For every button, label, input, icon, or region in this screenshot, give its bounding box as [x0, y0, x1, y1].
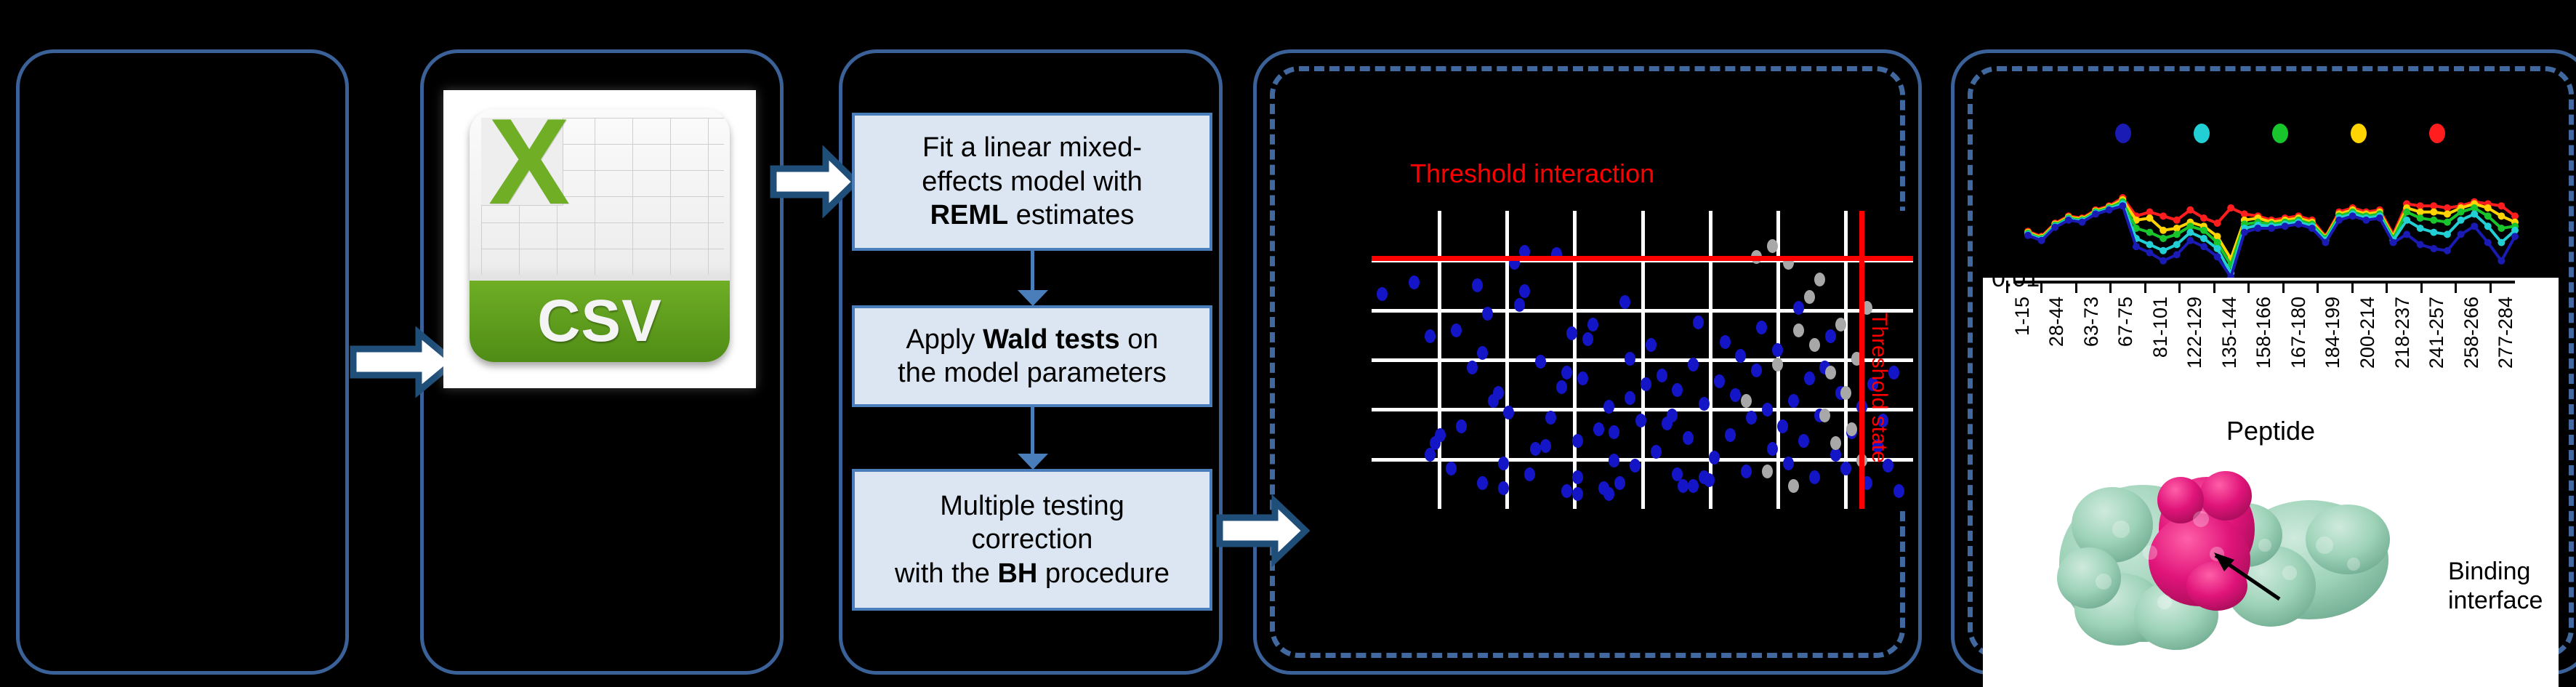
- chart-legend-dot: [2429, 124, 2445, 143]
- scatter-point: [1793, 301, 1804, 315]
- connector-2-arrowhead: [1018, 454, 1048, 470]
- scatter-point: [1693, 316, 1704, 329]
- flow-arrow-3: [1215, 494, 1310, 567]
- scatter-point: [1582, 332, 1593, 346]
- proc3-line1: Multiple testing: [940, 491, 1124, 521]
- chart-data-point: [2160, 247, 2167, 254]
- peptide-tick-label: 277-284: [2495, 297, 2517, 369]
- chart-data-point: [2430, 229, 2437, 236]
- scatter-point: [1625, 352, 1635, 366]
- scatter-point: [1545, 411, 1556, 425]
- scatter-point: [1804, 371, 1815, 385]
- scatter-point: [1741, 394, 1752, 408]
- chart-data-point: [2200, 214, 2207, 222]
- chart-data-point: [2133, 243, 2140, 250]
- scatter-point: [1756, 321, 1767, 334]
- connector-2: [1031, 407, 1034, 457]
- scatter-point: [1725, 428, 1736, 442]
- scatter-point: [1609, 454, 1619, 467]
- chart-data-point: [2241, 229, 2248, 236]
- line-chart-svg: [2006, 154, 2544, 285]
- scatter-point: [1451, 324, 1462, 337]
- connector-1: [1031, 251, 1034, 293]
- scatter-point: [1561, 366, 1572, 379]
- scatter-point: [1683, 431, 1694, 445]
- axis-tick: [2109, 281, 2112, 293]
- chart-data-point: [2146, 241, 2154, 248]
- axis-tick: [2178, 281, 2181, 293]
- scatter-point: [1678, 479, 1689, 493]
- proc1-line2: effects model with: [922, 166, 1142, 197]
- scatter-point: [1893, 484, 1904, 498]
- scatter-point: [1699, 470, 1710, 484]
- peptide-line-chart[interactable]: [2006, 154, 2544, 285]
- scatter-point: [1772, 343, 1783, 357]
- chart-data-point: [2038, 237, 2045, 244]
- peptide-tick-label: 81-101: [2149, 297, 2172, 358]
- chart-data-point: [2227, 204, 2234, 212]
- chart-data-point: [2214, 253, 2221, 260]
- scatter-point: [1809, 338, 1820, 352]
- scatter-title: Threshold interaction: [1410, 158, 1654, 189]
- threshold-interaction-line: [1372, 256, 1913, 261]
- chart-data-point: [2254, 225, 2261, 232]
- excel-x-icon: X: [488, 109, 570, 222]
- scatter-point: [1646, 338, 1657, 352]
- chart-data-point: [2362, 217, 2370, 224]
- binding-label-line1: Binding: [2448, 557, 2543, 586]
- scatter-point: [1587, 318, 1598, 332]
- chart-data-point: [2458, 217, 2465, 224]
- chart-data-point: [2160, 257, 2167, 265]
- scatter-point: [1614, 476, 1625, 490]
- scatter-point: [1377, 287, 1388, 301]
- scatter-point: [1477, 476, 1488, 490]
- peptide-tick-label: 122-129: [2183, 297, 2206, 369]
- chart-data-point: [2024, 232, 2032, 239]
- scatter-point: [1524, 467, 1535, 481]
- chart-data-point: [2146, 214, 2154, 222]
- scatter-point: [1425, 329, 1436, 343]
- chart-data-point: [2173, 241, 2181, 248]
- peptide-tick-label: 67-75: [2114, 297, 2137, 347]
- scatter-point: [1714, 374, 1725, 388]
- scatter-point: [1556, 380, 1567, 394]
- chart-data-point: [2322, 239, 2329, 246]
- chart-data-point: [2403, 217, 2410, 224]
- scatter-plot[interactable]: [1372, 211, 1913, 509]
- scatter-point: [1577, 371, 1588, 385]
- chart-data-point: [2200, 243, 2207, 250]
- chart-data-point: [2106, 206, 2113, 214]
- scatter-point: [1793, 324, 1804, 337]
- chart-data-point: [2160, 235, 2167, 242]
- proc1-reml: REML: [930, 200, 1009, 230]
- scatter-point: [1762, 403, 1773, 417]
- axis-tick: [2282, 281, 2285, 293]
- scatter-point: [1688, 479, 1699, 493]
- chart-data-point: [2444, 247, 2451, 254]
- scatter-point: [1446, 462, 1457, 475]
- chart-data-point: [2497, 212, 2505, 220]
- proc2-wald: Wald tests: [983, 324, 1120, 355]
- scatter-point: [1498, 457, 1509, 470]
- chart-legend-dot: [2272, 124, 2288, 143]
- scatter-point: [1572, 470, 1583, 484]
- chart-data-point: [2497, 257, 2505, 265]
- scatter-point: [1825, 366, 1836, 379]
- scatter-point: [1651, 445, 1662, 459]
- yaxis-tick-label: 0.01: [1992, 265, 2040, 293]
- scatter-point: [1593, 422, 1604, 436]
- chart-data-point: [2403, 230, 2410, 238]
- scatter-point: [1746, 411, 1757, 425]
- scatter-point: [1625, 391, 1635, 405]
- chart-data-point: [2497, 225, 2505, 232]
- chart-data-point: [2376, 214, 2383, 222]
- scatter-point: [1804, 290, 1815, 304]
- scatter-point: [1435, 428, 1446, 442]
- scatter-point: [1772, 358, 1783, 371]
- peptide-tick-label: 167-180: [2287, 297, 2310, 369]
- chart-data-point: [2484, 239, 2492, 246]
- scatter-gridline-h: [1372, 358, 1913, 362]
- chart-legend-dot: [2351, 124, 2367, 143]
- scatter-point: [1519, 284, 1530, 298]
- chart-data-point: [2186, 237, 2194, 244]
- chart-data-point: [2173, 251, 2181, 258]
- xaxis-title: Peptide: [1983, 416, 2559, 446]
- threshold-state-label: Threshold state: [1867, 313, 1891, 463]
- axis-tick: [2040, 281, 2042, 293]
- scatter-point: [1641, 377, 1651, 391]
- scatter-point: [1540, 439, 1551, 453]
- csv-label: CSV: [537, 287, 662, 355]
- process-box-fit-model[interactable]: Fit a linear mixed- effects model with R…: [852, 113, 1212, 251]
- scatter-point: [1467, 361, 1478, 374]
- scatter-point: [1482, 307, 1493, 321]
- chart-data-point: [2146, 229, 2154, 236]
- chart-data-point: [2268, 225, 2275, 232]
- chart-data-point: [2430, 217, 2437, 224]
- scatter-point: [1672, 383, 1683, 397]
- chart-data-point: [2497, 239, 2505, 246]
- axis-tick: [2144, 281, 2146, 293]
- scatter-point: [1709, 451, 1720, 465]
- scatter-point: [1840, 462, 1851, 475]
- chart-data-point: [2051, 224, 2058, 231]
- scatter-point: [1493, 386, 1504, 400]
- scatter-point: [1814, 273, 1825, 286]
- axis-line: [2013, 281, 2515, 284]
- scatter-point: [1730, 388, 1741, 402]
- scatter-point: [1535, 355, 1546, 369]
- peptide-tick-label: 200-214: [2356, 297, 2379, 369]
- chart-data-point: [2444, 219, 2451, 226]
- scatter-point: [1777, 419, 1788, 433]
- chart-data-point: [2403, 209, 2410, 216]
- axis-tick: [2455, 281, 2457, 293]
- scatter-point: [1572, 434, 1583, 448]
- scatter-point: [1783, 457, 1794, 470]
- chart-data-point: [2430, 209, 2437, 216]
- scatter-point: [1603, 400, 1614, 414]
- scatter-gridline-h: [1372, 309, 1913, 313]
- chart-data-point: [2511, 233, 2519, 240]
- chart-data-point: [2471, 222, 2478, 230]
- chart-data-point: [2497, 202, 2505, 209]
- chart-data-point: [2200, 227, 2207, 234]
- chart-data-point: [2417, 241, 2424, 248]
- axis-tick: [2490, 281, 2492, 293]
- chart-data-point: [2186, 229, 2194, 236]
- csv-badge: X CSV: [470, 109, 730, 362]
- scatter-point: [1472, 278, 1483, 292]
- process-box-multiple-testing[interactable]: Multiple testing correction with the BH …: [852, 469, 1212, 611]
- chart-data-point: [2484, 204, 2492, 212]
- proc2-line2: the model parameters: [898, 358, 1167, 388]
- scatter-point: [1657, 369, 1667, 382]
- chart-legend-dot: [2115, 124, 2131, 143]
- chart-data-point: [2186, 206, 2194, 214]
- binding-interface-annotation: Binding interface: [2448, 557, 2543, 615]
- scatter-point: [1688, 358, 1699, 371]
- proc2-pre: Apply: [906, 324, 983, 355]
- peptide-tick-label: 184-199: [2322, 297, 2344, 369]
- scatter-point: [1561, 484, 1572, 498]
- threshold-state-line: [1859, 211, 1864, 509]
- chart-data-point: [2214, 245, 2221, 252]
- scatter-point: [1667, 409, 1678, 422]
- chart-data-point: [2092, 210, 2099, 217]
- scatter-point: [1603, 487, 1614, 501]
- scatter-point: [1720, 335, 1731, 349]
- proc3-pre: with the: [895, 558, 998, 589]
- scatter-point: [1630, 459, 1641, 473]
- scatter-point: [1514, 298, 1525, 312]
- proc1-line1: Fit a linear mixed-: [922, 132, 1142, 163]
- axis-tick: [2420, 281, 2423, 293]
- scatter-point: [1809, 470, 1820, 484]
- peptide-tick-label: 241-257: [2426, 297, 2448, 369]
- scatter-point: [1503, 406, 1514, 419]
- chart-data-point: [2214, 220, 2221, 227]
- scatter-point: [1830, 436, 1841, 450]
- chart-data-point: [2173, 230, 2181, 238]
- scatter-point: [1762, 465, 1773, 478]
- peptide-axis: [1983, 278, 2559, 288]
- scatter-point: [1767, 442, 1778, 456]
- axis-tick: [2213, 281, 2215, 293]
- proc2-post: on: [1120, 324, 1159, 355]
- peptide-tick-label: 258-266: [2460, 297, 2483, 369]
- scatter-point: [1840, 386, 1851, 400]
- scatter-point: [1619, 295, 1630, 309]
- scatter-point: [1409, 276, 1420, 289]
- scatter-point: [1635, 414, 1646, 427]
- axis-tick: [2075, 281, 2077, 293]
- csv-band: CSV: [470, 281, 730, 362]
- proc3-bh: BH: [997, 558, 1037, 589]
- scatter-point: [1846, 422, 1857, 436]
- chart-data-point: [2349, 212, 2356, 220]
- chart-data-point: [2200, 235, 2207, 242]
- flow-arrow-2: [769, 145, 860, 218]
- chart-data-point: [2430, 245, 2437, 252]
- scatter-point: [1699, 397, 1710, 411]
- axis-tick: [2351, 281, 2354, 293]
- scatter-point: [1819, 409, 1830, 422]
- chart-data-point: [2458, 230, 2465, 238]
- chart-data-point: [2390, 239, 2397, 246]
- chart-data-point: [2160, 227, 2167, 234]
- axis-tick: [2386, 281, 2388, 293]
- connector-1-arrowhead: [1018, 290, 1048, 306]
- csv-file-icon: X CSV: [443, 90, 756, 388]
- scatter-gridline-h: [1372, 408, 1913, 411]
- chart-data-point: [2065, 217, 2072, 224]
- proc1-line3-rest: estimates: [1008, 200, 1134, 230]
- axis-tick: [2247, 281, 2250, 293]
- chart-data-point: [2444, 230, 2451, 238]
- pipeline-stage-input[interactable]: [16, 49, 349, 675]
- scatter-point: [1741, 465, 1752, 478]
- scatter-point: [1609, 425, 1619, 439]
- protein-structure-image: [2034, 443, 2441, 662]
- proc3-line2: correction: [972, 524, 1093, 555]
- peptide-tick-label: 63-73: [2080, 297, 2103, 347]
- peptide-tick-label: 135-144: [2218, 297, 2241, 369]
- proc3-post: procedure: [1037, 558, 1170, 589]
- scatter-point: [1572, 487, 1583, 501]
- chart-data-point: [2160, 212, 2167, 220]
- scatter-point: [1530, 442, 1541, 456]
- peptide-tick-label: 28-44: [2045, 297, 2068, 347]
- chart-legend-dot: [2194, 124, 2210, 143]
- chart-data-point: [2484, 222, 2492, 230]
- chart-data-point: [2119, 202, 2126, 209]
- chart-data-point: [2417, 225, 2424, 232]
- scatter-point: [1788, 479, 1799, 493]
- chart-data-point: [2173, 217, 2181, 224]
- scatter-point: [1798, 434, 1809, 448]
- axis-tick: [2317, 281, 2319, 293]
- chart-data-point: [2309, 225, 2316, 232]
- chart-data-point: [2146, 249, 2154, 257]
- chart-data-point: [2078, 219, 2085, 226]
- scatter-point: [1751, 363, 1762, 377]
- process-box-wald-tests[interactable]: Apply Wald tests on the model parameters: [852, 305, 1212, 407]
- scatter-point: [1825, 329, 1836, 343]
- chart-data-point: [2471, 210, 2478, 217]
- chart-data-point: [2417, 214, 2424, 222]
- scatter-point: [1456, 419, 1467, 433]
- chart-data-point: [2335, 217, 2343, 224]
- chart-data-point: [2444, 210, 2451, 217]
- peptide-tick-label: 158-166: [2253, 297, 2275, 369]
- flow-arrow-1: [349, 326, 458, 398]
- scatter-point: [1788, 394, 1799, 408]
- binding-label-line2: interface: [2448, 586, 2543, 615]
- scatter-point: [1767, 239, 1778, 253]
- results-white-panel: 1-1528-4463-7367-7581-101122-129135-1441…: [1983, 278, 2559, 687]
- chart-data-point: [2295, 220, 2302, 228]
- peptide-tick-label: 1-15: [2011, 297, 2034, 336]
- chart-data-point: [2282, 222, 2289, 230]
- chart-data-point: [2484, 212, 2492, 220]
- peptide-tick-label: 218-237: [2391, 297, 2414, 369]
- chart-data-point: [2458, 209, 2465, 216]
